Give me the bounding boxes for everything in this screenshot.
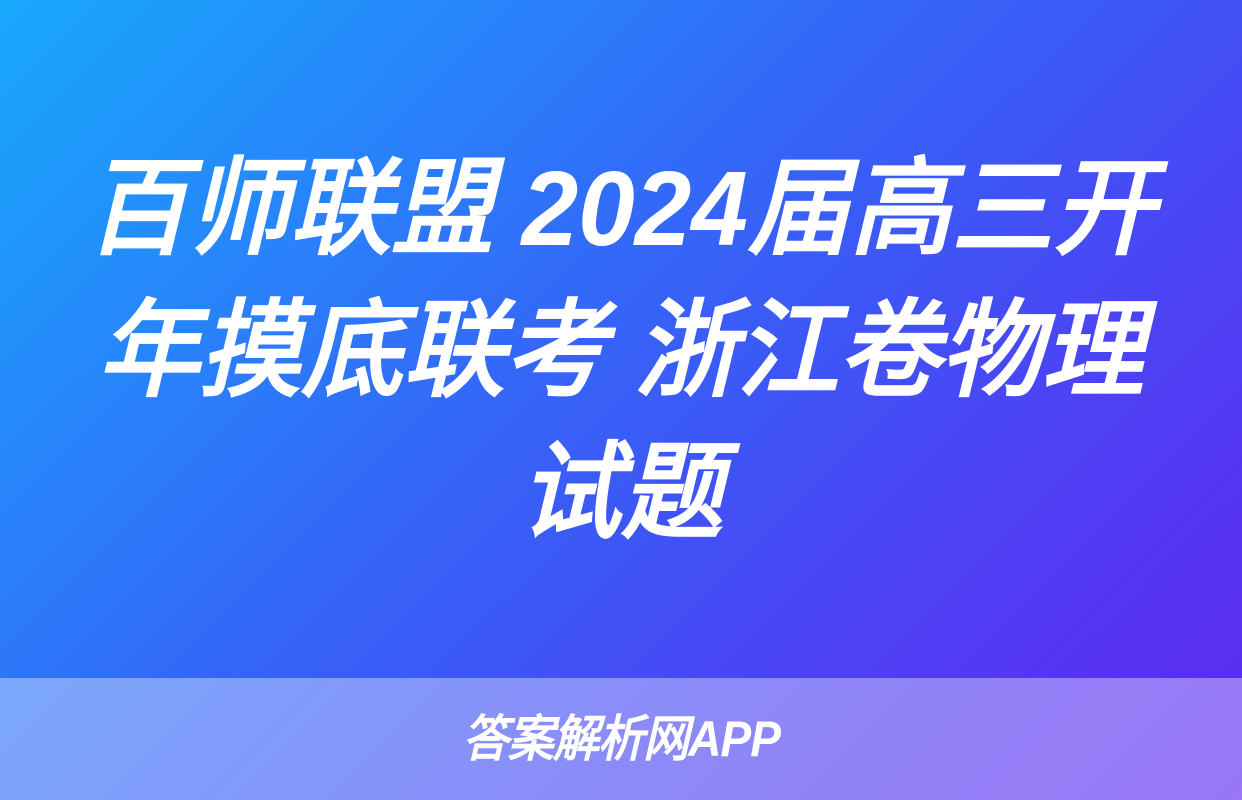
title-line-2: 年摸底联考 浙江卷物理 [98,280,1144,422]
title-line-1: 百师联盟 2024届高三开 [87,138,1156,280]
title-block: 百师联盟 2024届高三开 年摸底联考 浙江卷物理 试题 [0,0,1242,678]
app-watermark-label: 答案解析网APP [462,714,779,764]
title-line-3: 试题 [519,422,723,564]
poster-canvas: 百师联盟 2024届高三开 年摸底联考 浙江卷物理 试题 答案解析网APP [0,0,1242,800]
footer-band: 答案解析网APP [0,678,1242,800]
